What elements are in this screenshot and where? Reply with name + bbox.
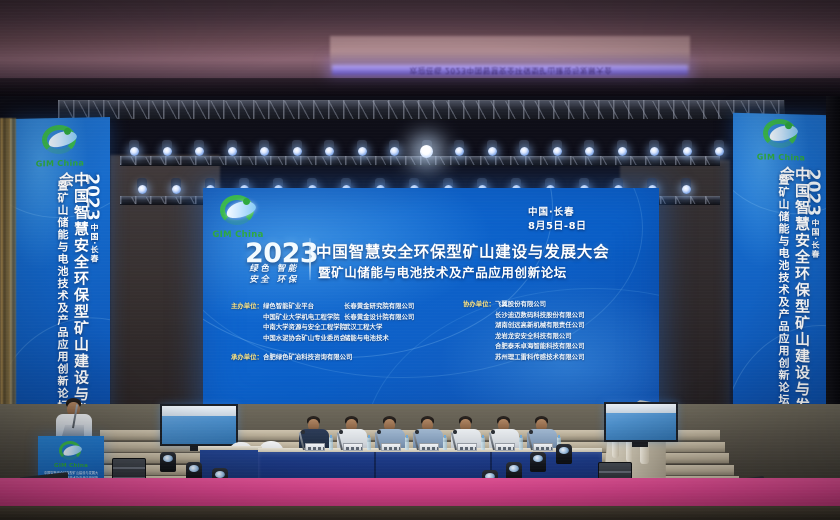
stage-light	[260, 147, 269, 156]
microphone-head	[377, 430, 381, 434]
gim-logo-text-right: GIM China	[755, 152, 807, 162]
credits-host-col1: 主办单位：绿色智能矿业平台中国矿业大学机电工程学院中南大学资源与安全工程学院中国…	[231, 301, 346, 343]
stage-light	[195, 147, 204, 156]
name-plate	[343, 443, 363, 451]
screen-city: 中国·长春	[528, 204, 575, 218]
microphone-head	[491, 430, 495, 434]
credit-value: 长春黄金研究院有限公司	[344, 302, 414, 310]
credit-line: 武汉工程大学	[344, 322, 414, 333]
gim-china-logo-right-banner: GIM China	[755, 117, 807, 162]
stage-light	[163, 147, 172, 156]
stage-light	[390, 147, 399, 156]
gim-china-logo-podium: GIM China	[54, 441, 88, 469]
credit-line: 苏州理工雷科传感技术有限公司	[463, 352, 584, 363]
credit-value: 湖南创远高新机械有限责任公司	[495, 321, 584, 329]
credit-line: 合肥泰禾卓海智能科技有限公司	[463, 341, 584, 352]
credit-line: 湖南创远高新机械有限责任公司	[463, 320, 584, 331]
credit-value: 长沙迪迈数码科技股份有限公司	[495, 311, 584, 319]
microphone-head	[529, 430, 533, 434]
name-plate	[533, 443, 553, 451]
credits-host-col2: 长春黄金研究院有限公司长春黄金设计院有限公司武汉工程大学储能与电池技术	[344, 301, 414, 343]
credit-value: 合肥泰禾卓海智能科技有限公司	[495, 342, 584, 350]
credit-value: 飞翼股份有限公司	[495, 300, 546, 308]
moving-head-light	[556, 444, 572, 464]
gim-china-logo-screen: GIM China	[212, 194, 264, 240]
credit-label: 承办单位：	[231, 353, 263, 361]
credit-line: 长春黄金设计院有限公司	[344, 312, 414, 323]
gim-logo-text-podium: GIM China	[54, 463, 88, 469]
credit-label: 主办单位：	[231, 302, 263, 310]
conference-stage-photo: 欢迎莅临 2023中国智慧安全环保型矿山建设与发展大会 GIM China 20…	[0, 0, 840, 520]
stage-light	[293, 147, 302, 156]
credit-value: 苏州理工雷科传感技术有限公司	[495, 353, 584, 361]
stage-light	[682, 185, 691, 194]
stage-light	[172, 185, 181, 194]
credit-line: 协办单位：飞翼股份有限公司	[463, 299, 584, 310]
credits-organizer: 承办单位：合肥绿色矿冶科技咨询有限公司	[231, 352, 352, 363]
credit-line: 储能与电池技术	[344, 333, 414, 344]
stage-light	[325, 147, 334, 156]
credit-value: 绿色智能矿业平台	[263, 302, 314, 310]
truss-middle	[120, 156, 720, 166]
stage-light	[618, 147, 627, 156]
microphone-head	[453, 430, 457, 434]
water-bottle	[443, 437, 447, 450]
gim-china-logo-left-banner: GIM China	[34, 124, 86, 169]
stage-light	[683, 147, 692, 156]
stage-light	[553, 147, 562, 156]
name-plate	[305, 443, 325, 451]
credit-value: 长春黄金设计院有限公司	[344, 313, 414, 321]
credit-value: 武汉工程大学	[344, 323, 382, 331]
ceiling-led-marquee-text: 欢迎莅临 2023中国智慧安全环保型矿山建设与发展大会	[336, 64, 686, 76]
credit-line: 龙岩龙安安全科技有限公司	[463, 331, 584, 342]
credit-value: 合肥绿色矿冶科技咨询有限公司	[263, 353, 352, 361]
name-plate	[457, 443, 477, 451]
stage-light	[520, 147, 529, 156]
right-banner-city: 中国·长春	[810, 219, 821, 261]
stage-light	[650, 147, 659, 156]
moving-head-light	[530, 452, 546, 472]
left-banner-city: 中国·长春	[89, 223, 100, 265]
credit-line: 长春黄金研究院有限公司	[344, 301, 414, 312]
name-plate	[495, 443, 515, 451]
screen-divider	[309, 238, 311, 280]
monitor-stand-right	[632, 442, 648, 447]
credit-label: 协办单位：	[463, 300, 495, 308]
credit-line: 承办单位：合肥绿色矿冶科技咨询有限公司	[231, 352, 352, 363]
gim-logo-text-left: GIM China	[34, 159, 86, 169]
stage-light	[455, 147, 464, 156]
credit-value: 龙岩龙安安全科技有限公司	[495, 332, 572, 340]
credit-value: 中南大学资源与安全工程学院	[263, 323, 346, 331]
stage-light	[228, 147, 237, 156]
truss-top	[58, 100, 784, 120]
water-bottle	[519, 437, 523, 450]
screen-sub-title: 暨矿山储能与电池技术及产品应用创新论坛	[318, 262, 608, 281]
stage-monitor-right	[604, 402, 678, 442]
credit-value: 中国水泥协会矿山专业委员会	[263, 334, 346, 342]
stage-light	[130, 147, 139, 156]
water-bottle	[405, 437, 409, 450]
name-plate	[381, 443, 401, 451]
credit-line: 中国水泥协会矿山专业委员会	[231, 333, 346, 344]
credit-value: 储能与电池技术	[344, 334, 389, 342]
credit-value: 中国矿业大学机电工程学院	[263, 313, 340, 321]
credit-line: 中国矿业大学机电工程学院	[231, 312, 346, 323]
stage-light	[138, 185, 147, 194]
stage-light	[420, 145, 433, 158]
stage-light	[358, 147, 367, 156]
name-plate	[419, 443, 439, 451]
microphone-head	[339, 430, 343, 434]
moving-head-light	[160, 452, 176, 472]
screen-main-title: 中国智慧安全环保型矿山建设与发展大会	[316, 240, 604, 262]
microphone-head	[415, 430, 419, 434]
stage-light	[488, 147, 497, 156]
water-bottle	[481, 437, 485, 450]
water-bottle	[367, 437, 371, 450]
screen-year-slogan: 绿色 智能安全 环保	[246, 264, 302, 286]
credit-line: 主办单位：绿色智能矿业平台	[231, 301, 346, 312]
stage-light	[585, 147, 594, 156]
credit-line: 中南大学资源与安全工程学院	[231, 322, 346, 333]
stage-light	[715, 147, 724, 156]
credits-coorganizers: 协办单位：飞翼股份有限公司长沙迪迈数码科技股份有限公司湖南创远高新机械有限责任公…	[463, 299, 584, 363]
water-bottle	[329, 437, 333, 450]
foreground-shadow	[0, 506, 840, 520]
microphone-head	[301, 430, 305, 434]
credit-line: 长沙迪迈数码科技股份有限公司	[463, 310, 584, 321]
stage-monitor-left	[160, 404, 238, 446]
screen-date: 8月5日-8日	[528, 217, 587, 232]
